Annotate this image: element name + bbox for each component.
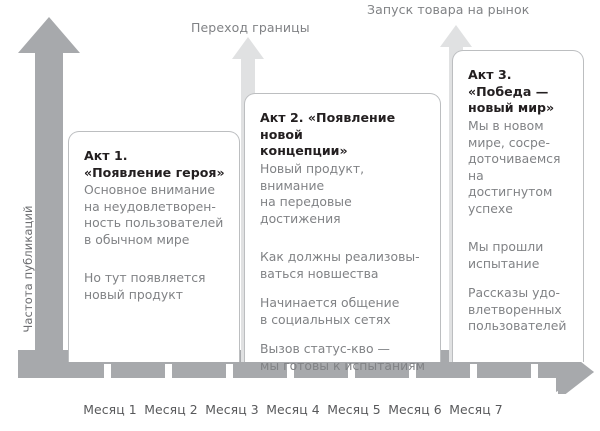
act-card-2-paragraph-4: Вызов статус-кво — мы готовы к испытания… xyxy=(260,341,426,374)
act-card-3-title: Акт 3. «Победа — новый мир» xyxy=(468,67,569,117)
act-card-1-title: Акт 1. «Появление героя» xyxy=(84,148,225,181)
act-card-3-paragraph-3: Рассказы удо- влетворенных пользователей xyxy=(468,285,569,335)
act-card-2-paragraph-3: Начинается общение в социальных сетях xyxy=(260,295,426,328)
act-card-1-paragraph-2: Но тут появляется новый продукт xyxy=(84,270,225,303)
act-card-1: Акт 1. «Появление героя» Основное вниман… xyxy=(68,131,240,362)
act-card-2-title: Акт 2. «Появление новой концепции» xyxy=(260,110,426,160)
x-tick-label-7: Месяц 7 xyxy=(440,402,512,417)
act-card-3: Акт 3. «Победа — новый мир» Мы в новом м… xyxy=(452,50,584,362)
act-card-2: Акт 2. «Появление новой концепции» Новый… xyxy=(244,93,441,362)
milestone-label-1: Переход границы xyxy=(191,20,310,35)
milestone-label-2: Запуск товара на рынок xyxy=(367,2,529,17)
timeline-diagram: Частота публикаций Переход границы Зап xyxy=(0,0,600,431)
act-card-3-paragraph-1: Мы в новом мире, сосре- доточиваемся на … xyxy=(468,118,569,217)
act-card-2-paragraph-2: Как должны реализовы- ваться новшества xyxy=(260,249,426,282)
act-card-1-paragraph-1: Основное внимание на неудовлетворен- нос… xyxy=(84,182,225,248)
y-axis-title: Частота публикаций xyxy=(21,179,35,359)
act-card-3-paragraph-2: Мы прошли испытание xyxy=(468,239,569,272)
act-card-2-paragraph-1: Новый продукт, внимание на передовые дос… xyxy=(260,161,426,227)
